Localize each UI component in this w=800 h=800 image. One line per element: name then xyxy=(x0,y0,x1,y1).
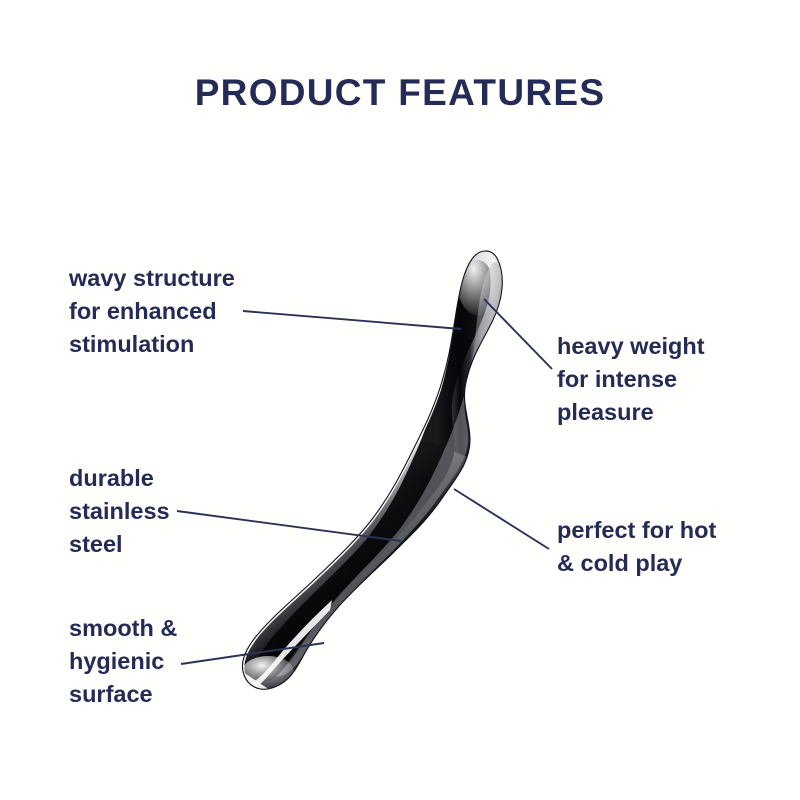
page-title: PRODUCT FEATURES xyxy=(0,72,800,114)
leader-hot-cold-play xyxy=(454,489,549,549)
callout-line: heavy weight xyxy=(557,330,705,363)
callout-wavy-structure: wavy structure for enhanced stimulation xyxy=(69,262,235,361)
product-features-infographic: PRODUCT FEATURES xyxy=(0,0,800,800)
callout-hot-cold-play: perfect for hot & cold play xyxy=(557,514,716,580)
callout-line: & cold play xyxy=(557,547,716,580)
callout-line: steel xyxy=(69,528,170,561)
callout-line: stainless xyxy=(69,495,170,528)
callout-line: durable xyxy=(69,462,170,495)
callout-line: for intense xyxy=(557,363,705,396)
product-body xyxy=(225,245,520,710)
leader-smooth-surface xyxy=(181,643,324,664)
callout-line: wavy structure xyxy=(69,262,235,295)
callout-line: pleasure xyxy=(557,396,705,429)
callout-line: perfect for hot xyxy=(557,514,716,547)
callout-line: smooth & xyxy=(69,612,177,645)
callout-smooth-hygienic-surface: smooth & hygienic surface xyxy=(69,612,177,711)
callout-durable-stainless-steel: durable stainless steel xyxy=(69,462,170,561)
leader-durable-steel xyxy=(177,511,401,541)
leader-wavy-structure xyxy=(243,311,461,329)
callout-line: surface xyxy=(69,678,177,711)
leader-heavy-weight xyxy=(484,299,552,369)
callout-heavy-weight: heavy weight for intense pleasure xyxy=(557,330,705,429)
callout-line: stimulation xyxy=(69,328,235,361)
callout-line: hygienic xyxy=(69,645,177,678)
callout-line: for enhanced xyxy=(69,295,235,328)
